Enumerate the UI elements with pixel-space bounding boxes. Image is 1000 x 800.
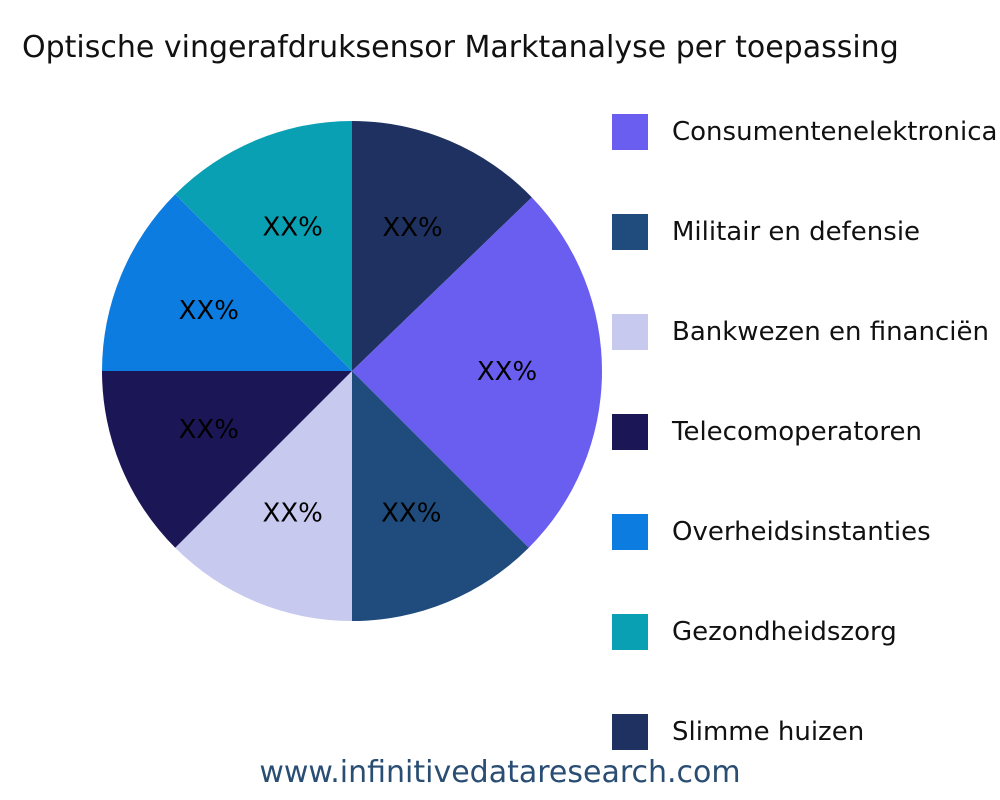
- legend-swatch-icon: [612, 214, 648, 250]
- legend-item-label: Overheidsinstanties: [672, 514, 931, 550]
- legend-item[interactable]: Gezondheidszorg: [612, 612, 1000, 652]
- pie-chart: XX%XX%XX%XX%XX%XX%XX%: [102, 121, 602, 621]
- page-title: Optische vingerafdruksensor Marktanalyse…: [22, 24, 1000, 72]
- legend-item-label: Gezondheidszorg: [672, 614, 897, 650]
- pie-slice-label: XX%: [263, 499, 323, 529]
- legend-swatch-icon: [612, 114, 648, 150]
- pie-slice-label: XX%: [179, 415, 239, 445]
- legend-item[interactable]: Militair en defensie: [612, 212, 1000, 252]
- pie-slice-label: XX%: [263, 212, 323, 242]
- legend-item-label: Telecomoperatoren: [672, 414, 922, 450]
- pie-slice-label: XX%: [382, 213, 442, 243]
- legend-swatch-icon: [612, 614, 648, 650]
- legend-item-label: Militair en defensie: [672, 214, 920, 250]
- legend-item[interactable]: Bankwezen en financiën: [612, 312, 1000, 352]
- pie-slice-label: XX%: [381, 499, 441, 529]
- legend-item[interactable]: Telecomoperatoren: [612, 412, 1000, 452]
- legend-item-label: Slimme huizen: [672, 714, 864, 750]
- legend-item[interactable]: Consumentenelektronica: [612, 112, 1000, 152]
- chart-page: Optische vingerafdruksensor Marktanalyse…: [0, 0, 1000, 800]
- legend-swatch-icon: [612, 414, 648, 450]
- legend-item-label: Consumentenelektronica: [672, 114, 997, 150]
- site-url-watermark: www.infinitivedataresearch.com: [0, 755, 1000, 790]
- legend-swatch-icon: [612, 314, 648, 350]
- pie-chart-svg: XX%XX%XX%XX%XX%XX%XX%: [102, 121, 602, 621]
- legend-swatch-icon: [612, 514, 648, 550]
- legend-swatch-icon: [612, 714, 648, 750]
- pie-slice-label: XX%: [179, 296, 239, 326]
- pie-slice-label: XX%: [477, 357, 537, 387]
- legend-item[interactable]: Slimme huizen: [612, 712, 1000, 752]
- legend: ConsumentenelektronicaMilitair en defens…: [612, 112, 1000, 772]
- legend-item[interactable]: Overheidsinstanties: [612, 512, 1000, 552]
- legend-item-label: Bankwezen en financiën: [672, 314, 989, 350]
